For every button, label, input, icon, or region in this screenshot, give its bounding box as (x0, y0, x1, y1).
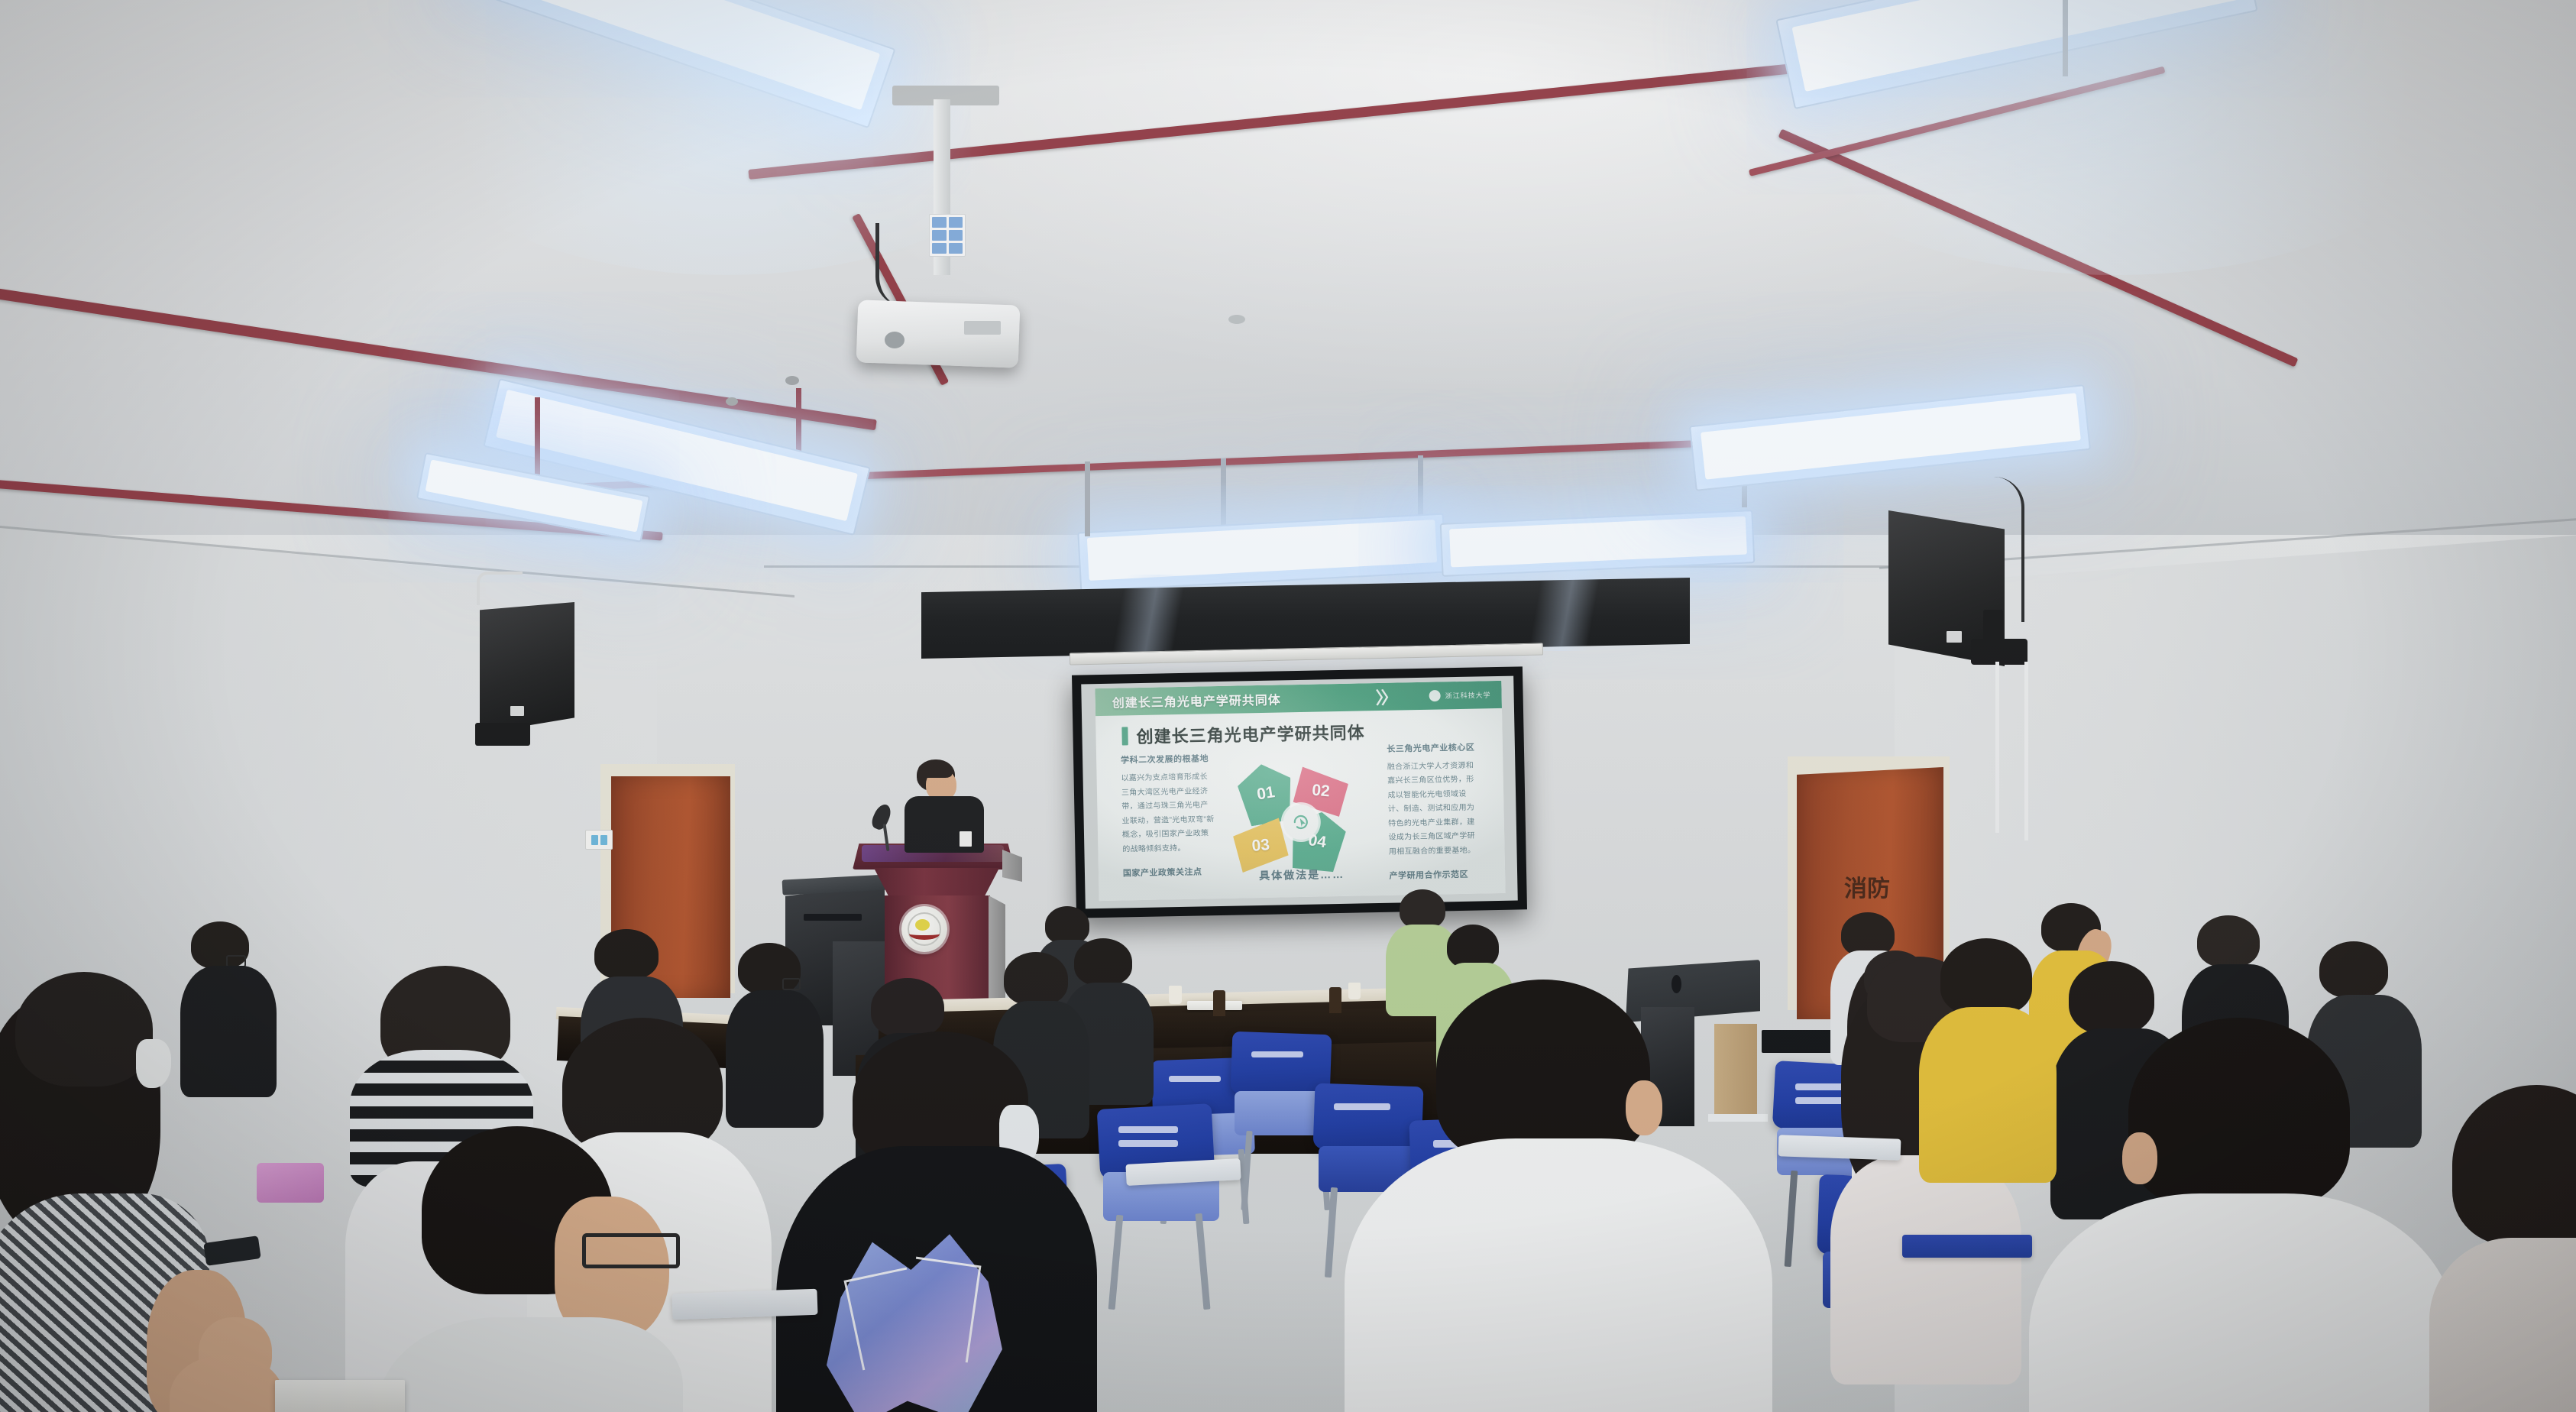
tee-print-stroke-2 (903, 1257, 982, 1363)
speaker-left-brand-icon (510, 706, 524, 716)
chair-back (1313, 1083, 1424, 1153)
light-rod-4a (1221, 458, 1226, 532)
smoke-detector-icon (1228, 315, 1245, 324)
slide-title-row: 创建长三角光电产学研共同体 (1121, 720, 1365, 749)
slide-right-body: 融合浙江大学人才资源和嘉兴长三角区位优势，形成以智能化光电领域设计、制造、测试和… (1387, 759, 1483, 860)
slide-title: 创建长三角光电产学研共同体 (1136, 720, 1365, 749)
bench-divider-4 (1329, 987, 1341, 1013)
slide-left-body: 以嘉兴为支点培育形成长三角大湾区光电产业经济带，通过与珠三角光电产业联动，营造"… (1121, 770, 1215, 857)
slide-right-tag: 产学研用合作示范区 (1389, 868, 1483, 882)
projector-button-5[interactable] (932, 243, 947, 254)
student-hair (1074, 938, 1132, 986)
university-logo-text: 浙江科技大学 (1445, 690, 1491, 701)
student-hair (1436, 980, 1650, 1163)
projector-control-panel[interactable] (929, 214, 966, 257)
slide-left-subtitle: 学科二次发展的根基地 (1121, 752, 1215, 766)
presentation-slide[interactable]: 创建长三角光电产学研共同体 〉〉 浙江科技大学 创建长三角光电产学研共同体 学科… (1095, 681, 1505, 901)
notebook-on-desk (275, 1380, 405, 1412)
projector-button-4[interactable] (949, 230, 963, 241)
projector-lens (885, 332, 905, 348)
blackboard-reflection-2 (1436, 568, 1688, 651)
blackboard-reflection (1016, 575, 1276, 660)
desk-tablet-2 (1778, 1135, 1901, 1161)
projector-button-6[interactable] (949, 243, 963, 254)
switch-rocker-2[interactable] (600, 835, 607, 845)
wall-conduit-right-1 (1995, 662, 1999, 833)
tee-graphic-print (827, 1230, 1002, 1412)
student-shirt (180, 966, 277, 1097)
speaker-left-cable (477, 572, 523, 605)
door-right-sign: 消防 (1844, 870, 1890, 903)
gooseneck-microphone (868, 804, 901, 851)
slide-right-column: 长三角光电产业核心区 融合浙江大学人才资源和嘉兴长三角区位优势，形成以智能化光电… (1387, 740, 1483, 882)
university-logo-mark-icon (1429, 690, 1440, 701)
switch-rocker-1[interactable] (591, 835, 598, 845)
lecture-hall-photo: 消防 创建长三角光电产学研共同体 〉〉 浙江科技大学 创建长三角光电产学研共同体… (0, 0, 2576, 1412)
podium-neck (874, 868, 999, 897)
light-switch-left[interactable] (585, 830, 613, 850)
speaker-left-bracket (475, 723, 530, 746)
paper-cup-1 (1169, 986, 1182, 1004)
presenter-hair-front (918, 761, 952, 778)
student-hair (2128, 1018, 2350, 1209)
ceiling-sensor-2-icon (726, 397, 738, 406)
student-glasses-icon (782, 978, 801, 990)
student-hair (1400, 889, 1445, 929)
chair-slot (1118, 1126, 1178, 1133)
projector-vent (964, 321, 1001, 335)
desk-tablet-3 (1902, 1235, 2032, 1258)
pencil-pouch (257, 1163, 324, 1203)
slide-header-title: 创建长三角光电产学研共同体 (1112, 690, 1280, 711)
presenter-at-podium (900, 759, 992, 859)
student-shirt (1830, 1155, 2021, 1384)
wall-speaker-left (480, 602, 574, 734)
light-rod-6a (1085, 461, 1090, 536)
projector-cable (875, 223, 929, 307)
slide-left-column: 学科二次发展的根基地 以嘉兴为支点培育形成长三角大湾区光电产业经济带，通过与珠三… (1121, 752, 1216, 879)
student-shirt (726, 990, 824, 1128)
presenter-name-badge (960, 831, 972, 847)
student-hair (2069, 961, 2154, 1035)
light-rod-2a (2063, 0, 2068, 76)
chair-slot (1169, 1076, 1221, 1082)
student-hair (1004, 952, 1068, 1006)
student-hair (2319, 941, 2388, 998)
projector-button-3[interactable] (932, 230, 947, 241)
av-console-base (1708, 1114, 1768, 1122)
projector-button-1[interactable] (932, 217, 947, 228)
slide-title-accent-bar (1121, 727, 1128, 746)
student-mask-icon (136, 1039, 171, 1088)
paper-cup-2 (1348, 983, 1361, 999)
av-monitor-lens-icon (1671, 975, 1681, 993)
projector-button-2[interactable] (949, 217, 963, 228)
chair-slot (1334, 1103, 1390, 1110)
slide-left-tag: 国家产业政策关注点 (1123, 865, 1217, 879)
presenter-shirt (905, 796, 984, 853)
av-cabinet-left-slot (804, 914, 862, 921)
av-console-wood-panel (1714, 1024, 1757, 1116)
light-rod-5a (535, 397, 540, 484)
student-ear (1626, 1080, 1662, 1135)
wall-conduit-right-2 (2024, 662, 2028, 840)
student-shirt (1919, 1007, 2057, 1183)
student-glasses-icon (582, 1233, 680, 1268)
student-shirt (1345, 1138, 1772, 1412)
student-hair (1940, 938, 2032, 1015)
chair-slot (1118, 1140, 1178, 1147)
student-shirt (2429, 1238, 2576, 1412)
av-rack-slot (1762, 1030, 1837, 1053)
slide-footer-text: 具体做法是…… (1259, 866, 1345, 883)
ceiling-sensor-icon (785, 376, 799, 385)
bench-divider-3 (1213, 990, 1225, 1016)
student-ear (2122, 1132, 2157, 1184)
desk-tablet-4 (672, 1289, 817, 1320)
student-hair (1045, 906, 1089, 944)
student-hair (594, 929, 659, 980)
microphone-head-icon (869, 802, 894, 831)
student-hair (15, 972, 153, 1087)
university-crest (901, 906, 947, 952)
student-hair (871, 978, 944, 1038)
microphone-stem (883, 824, 890, 851)
chevron-right-icon: 〉〉 (1375, 685, 1395, 709)
student-shirt (2029, 1193, 2457, 1412)
speaker-right-brand-icon (1947, 631, 1962, 643)
chair-slot (1251, 1051, 1303, 1057)
student-hair (2197, 915, 2260, 967)
slide-right-subtitle: 长三角光电产业核心区 (1387, 740, 1481, 754)
speaker-right-cable (1994, 477, 2024, 622)
university-logo: 浙江科技大学 (1429, 689, 1490, 702)
